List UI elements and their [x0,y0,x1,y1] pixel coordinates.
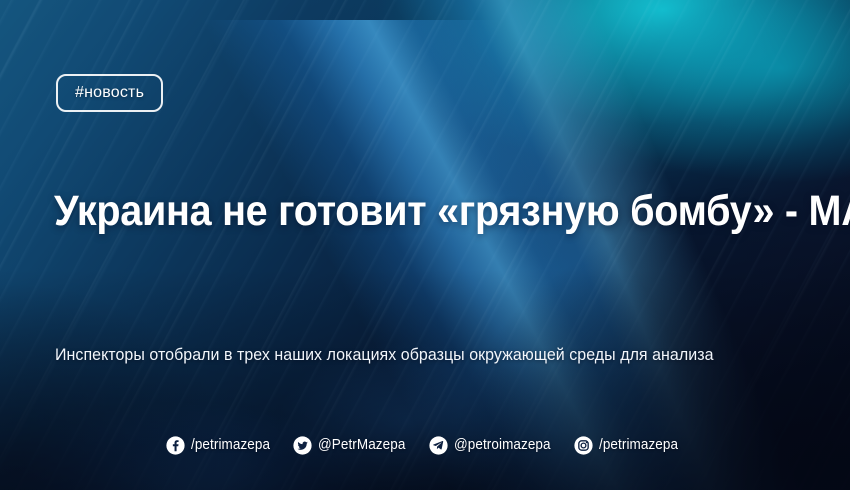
social-handle-instagram: /petrimazepa [599,436,678,455]
social-link-facebook[interactable]: /petrimazepa [166,436,276,455]
news-card: #новость Украина не готовит «грязную бом… [0,0,850,490]
facebook-icon [166,436,185,455]
headline: Украина не готовит «грязную бомбу» - МАГ… [54,186,744,236]
social-link-twitter[interactable]: @PetrMazepa [293,436,412,455]
subtitle: Инспекторы отобрали в трех наших локация… [55,344,769,366]
social-links: /petrimazepa @PetrMazepa @petroimazepa [0,436,850,455]
card-content: #новость Украина не готовит «грязную бом… [0,0,850,490]
social-link-telegram[interactable]: @petroimazepa [429,436,558,455]
telegram-icon [429,436,448,455]
instagram-icon [574,436,593,455]
social-handle-twitter: @PetrMazepa [318,436,405,455]
twitter-icon [293,436,312,455]
category-badge[interactable]: #новость [56,74,163,112]
social-link-instagram[interactable]: /petrimazepa [574,436,684,455]
social-handle-telegram: @petroimazepa [454,436,551,455]
social-handle-facebook: /petrimazepa [191,436,270,455]
